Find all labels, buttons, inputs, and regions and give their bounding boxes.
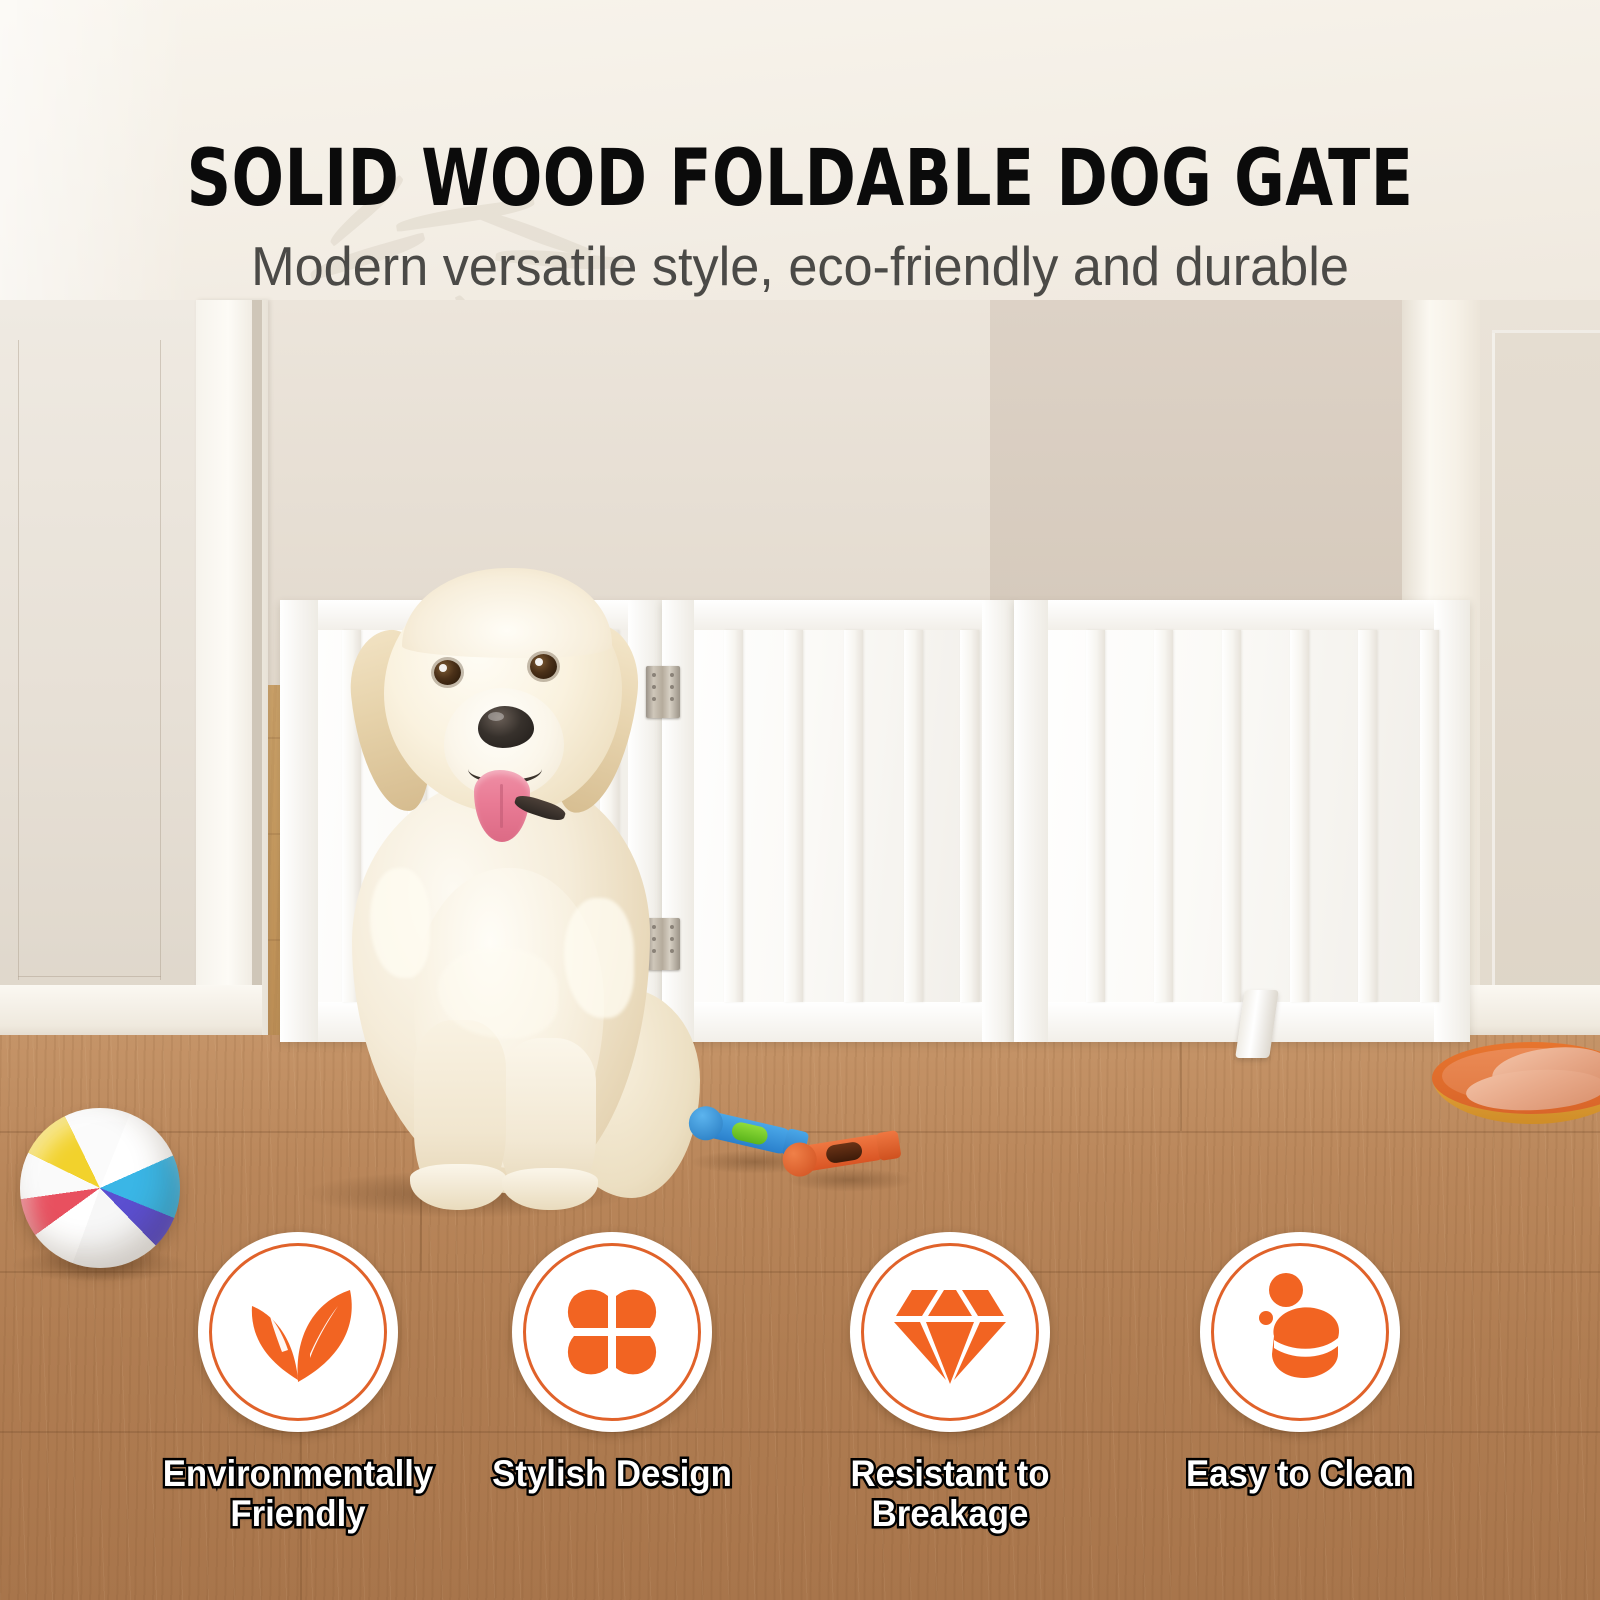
- badge-circle-1: [198, 1232, 398, 1432]
- feature-label-1: Environmentally Friendly: [157, 1454, 439, 1534]
- feature-label-2: Stylish Design: [471, 1454, 753, 1494]
- feature-label-3: Resistant to Breakage: [809, 1454, 1091, 1534]
- diamond-gem-icon: [850, 1232, 1050, 1432]
- page-subtitle: Modern versatile style, eco-friendly and…: [40, 238, 1560, 296]
- feature-resistant-to-breakage[interactable]: Resistant to Breakage: [800, 1232, 1100, 1534]
- dog-eye-left: [434, 660, 461, 685]
- gate-panel-3: [1014, 600, 1470, 1042]
- door-frame-left-shadow: [252, 300, 262, 1042]
- feature-environmentally-friendly[interactable]: Environmentally Friendly: [148, 1232, 448, 1534]
- page-title: SOLID WOOD FOLDABLE DOG GATE: [96, 140, 1504, 218]
- treat-bowl: [1432, 1042, 1600, 1134]
- feature-label-4: Easy to Clean: [1159, 1454, 1441, 1494]
- feature-stylish-design[interactable]: Stylish Design: [462, 1232, 762, 1494]
- dog-nose: [478, 706, 534, 748]
- dog-head-fluff: [402, 568, 612, 658]
- badge-circle-2: [512, 1232, 712, 1432]
- feature-badges: Environmentally Friendly Stylish Design: [0, 1232, 1600, 1572]
- leaves-icon: [198, 1232, 398, 1432]
- four-petal-clover-icon: [512, 1232, 712, 1432]
- product-marketing-image: SOLID WOOD FOLDABLE DOG GATE Modern vers…: [0, 0, 1600, 1600]
- feature-easy-to-clean[interactable]: Easy to Clean: [1150, 1232, 1450, 1494]
- dog-eye-right: [530, 654, 557, 679]
- right-wall-panel: [1492, 330, 1600, 1036]
- badge-circle-4: [1200, 1232, 1400, 1432]
- dog-paw-right: [502, 1168, 598, 1210]
- dog-paw-left: [410, 1164, 506, 1210]
- badge-circle-3: [850, 1232, 1050, 1432]
- golden-retriever-dog: [318, 568, 738, 1208]
- sponge-bubbles-icon: [1200, 1232, 1400, 1432]
